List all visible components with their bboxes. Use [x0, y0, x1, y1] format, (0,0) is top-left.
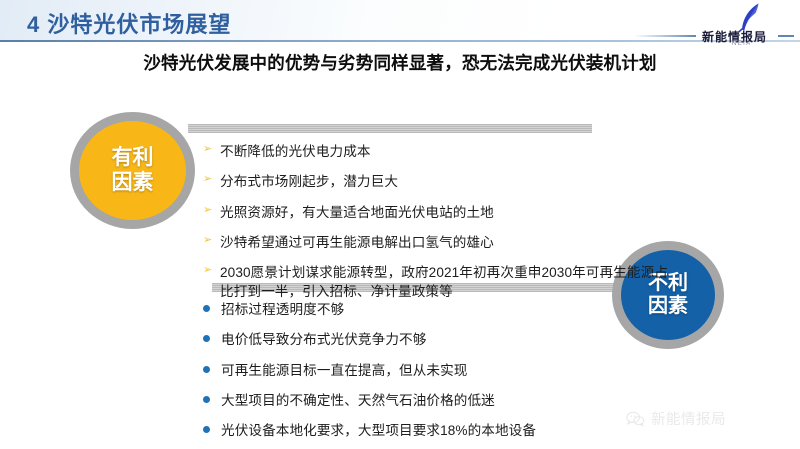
arrow-bullet-icon: ➢	[203, 234, 220, 248]
badge-advantages-line2: 因素	[112, 171, 154, 195]
page-title: 4 沙特光伏市场展望	[27, 7, 231, 39]
connector-bar-pros	[188, 124, 592, 133]
list-item-text: 光照资源好，有大量适合地面光伏电站的土地	[220, 203, 673, 222]
disadvantages-list: 招标过程透明度不够 电价低导致分布式光伏竞争力不够 可再生能源目标一直在提高，但…	[203, 300, 673, 440]
list-item: ➢ 光照资源好，有大量适合地面光伏电站的土地	[203, 203, 673, 222]
dot-bullet-icon	[203, 366, 221, 373]
list-item-text: 沙特希望通过可再生能源电解出口氢气的雄心	[220, 233, 673, 252]
list-item: 大型项目的不确定性、天然气石油价格的低迷	[203, 391, 673, 410]
list-item: ➢ 分布式市场刚起步，潜力巨大	[203, 172, 673, 191]
list-item-text: 不断降低的光伏电力成本	[220, 142, 673, 161]
arrow-bullet-icon: ➢	[203, 143, 220, 157]
list-item: 电价低导致分布式光伏竞争力不够	[203, 330, 673, 349]
list-item: ➢ 不断降低的光伏电力成本	[203, 142, 673, 161]
list-item-text: 电价低导致分布式光伏竞争力不够	[221, 330, 673, 349]
dot-bullet-icon	[203, 335, 221, 342]
list-item: ➢ 沙特希望通过可再生能源电解出口氢气的雄心	[203, 233, 673, 252]
wechat-icon	[626, 411, 645, 427]
watermark-text: 新能情报局	[651, 408, 726, 429]
arrow-bullet-icon: ➢	[203, 173, 220, 187]
arrow-bullet-icon: ➢	[203, 204, 220, 218]
logo-dash-right	[778, 35, 794, 37]
list-item-text: 可再生能源目标一直在提高，但从未实现	[221, 361, 673, 380]
badge-advantages-line1: 有利	[112, 146, 154, 170]
list-item: ➢ 2030愿景计划谋求能源转型，政府2021年初再次重申2030年可再生能源占…	[203, 263, 673, 302]
dot-bullet-icon	[203, 305, 221, 312]
list-item: 光伏设备本地化要求，大型项目要求18%的本地设备	[203, 421, 673, 440]
dot-bullet-icon	[203, 426, 221, 433]
badge-advantages: 有利 因素	[70, 112, 195, 229]
brand-logo: 新能情报局 NEIA	[662, 2, 792, 50]
dot-bullet-icon	[203, 396, 221, 403]
list-item-text: 招标过程透明度不够	[221, 300, 673, 319]
list-item-text: 光伏设备本地化要求，大型项目要求18%的本地设备	[221, 421, 673, 440]
slide-subtitle: 沙特光伏发展中的优势与劣势同样显著，恐无法完成光伏装机计划	[0, 50, 800, 75]
arrow-bullet-icon: ➢	[203, 264, 220, 278]
logo-dash-left	[634, 35, 696, 37]
advantages-list: ➢ 不断降低的光伏电力成本 ➢ 分布式市场刚起步，潜力巨大 ➢ 光照资源好，有大…	[203, 142, 673, 302]
logo-subtext: NEIA	[732, 41, 752, 47]
watermark: 新能情报局	[626, 408, 726, 429]
list-item: 招标过程透明度不够	[203, 300, 673, 319]
list-item: 可再生能源目标一直在提高，但从未实现	[203, 361, 673, 380]
list-item-text: 大型项目的不确定性、天然气石油价格的低迷	[221, 391, 673, 410]
slide-root: 4 沙特光伏市场展望 新能情报局 NEIA 沙特光伏发展中的优势与劣势同样显著，…	[0, 0, 800, 449]
list-item-text: 2030愿景计划谋求能源转型，政府2021年初再次重申2030年可再生能源占比打…	[220, 263, 673, 302]
list-item-text: 分布式市场刚起步，潜力巨大	[220, 172, 673, 191]
